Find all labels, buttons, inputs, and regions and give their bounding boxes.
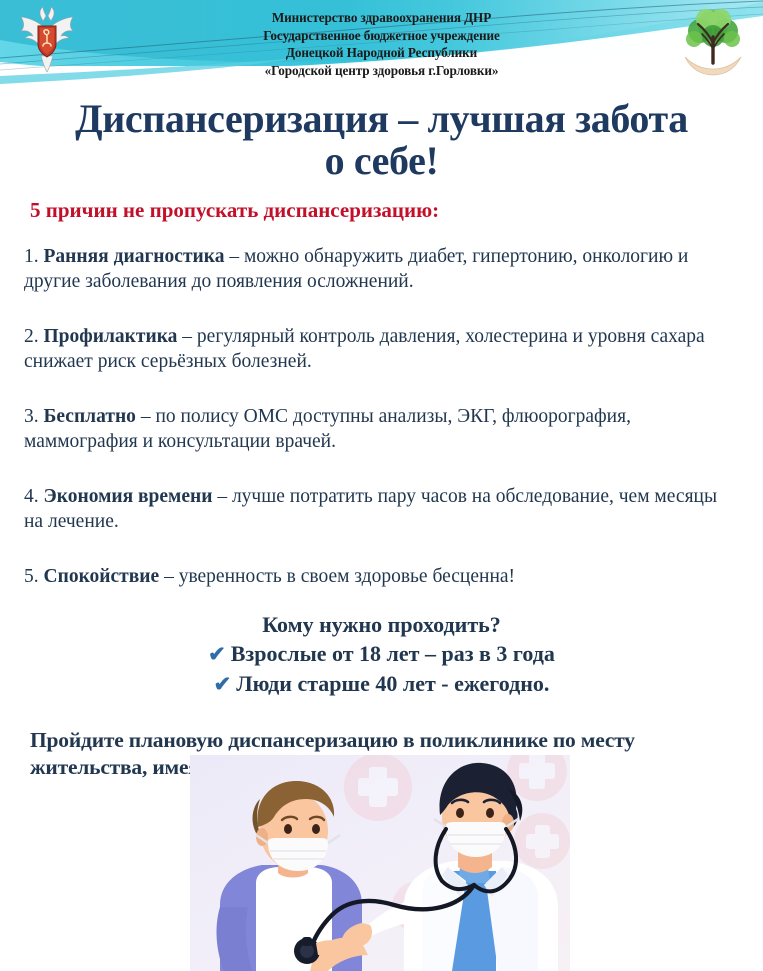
reasons-list: 1. Ранняя диагностика – можно обнаружить… [0, 244, 763, 589]
reason-text-5: – уверенность в своем здоровье бесценна! [159, 566, 515, 587]
reason-lead-4: Экономия времени [44, 486, 213, 507]
health-poster: Министерство здравоохранения ДНР Государ… [0, 0, 763, 971]
reason-number-1: 1. [24, 246, 39, 267]
who-list-item-1-label: Взрослые от 18 лет – раз в 3 года [231, 641, 555, 666]
reason-item-1: 1. Ранняя диагностика – можно обнаружить… [24, 244, 741, 294]
reason-item-5: 5. Спокойствие – уверенность в своем здо… [24, 564, 741, 589]
checkmark-icon: ✔ [208, 642, 226, 666]
page-title: Диспансеризация – лучшая забота о себе! [0, 98, 763, 182]
header-banner: Министерство здравоохранения ДНР Государ… [0, 0, 763, 92]
checkmark-icon: ✔ [214, 672, 232, 696]
reason-lead-2: Профилактика [44, 326, 178, 347]
reason-item-4: 4. Экономия времени – лучше потратить па… [24, 484, 741, 534]
reason-number-4: 4. [24, 486, 39, 507]
reason-lead-5: Спокойствие [44, 566, 160, 587]
dnr-coat-of-arms-icon [8, 4, 86, 76]
reason-number-5: 5. [24, 566, 39, 587]
reason-lead-1: Ранняя диагностика [44, 246, 225, 267]
subtitle-five-reasons: 5 причин не пропускать диспансеризацию: [0, 198, 763, 222]
reason-number-2: 2. [24, 326, 39, 347]
header-wave-decoration [0, 0, 763, 92]
doctor-examining-patient-image [190, 755, 570, 971]
doctor-patient-illustration [190, 755, 570, 971]
green-tree-health-logo-icon [673, 3, 753, 81]
who-section-heading: Кому нужно проходить? [0, 611, 763, 639]
reason-lead-3: Бесплатно [44, 406, 136, 427]
page-title-line-1: Диспансеризация – лучшая забота [16, 98, 747, 140]
reason-number-3: 3. [24, 406, 39, 427]
reason-item-2: 2. Профилактика – регулярный контроль да… [24, 324, 741, 374]
who-list-item-1: ✔Взрослые от 18 лет – раз в 3 года [0, 639, 763, 669]
who-list-item-2: ✔Люди старше 40 лет - ежегодно. [0, 669, 763, 699]
who-list-item-2-label: Люди старше 40 лет - ежегодно. [236, 671, 549, 696]
who-should-attend-section: Кому нужно проходить? ✔Взрослые от 18 ле… [0, 611, 763, 699]
reason-item-3: 3. Бесплатно – по полису ОМС доступны ан… [24, 404, 741, 454]
page-title-line-2: о себе! [16, 140, 747, 182]
